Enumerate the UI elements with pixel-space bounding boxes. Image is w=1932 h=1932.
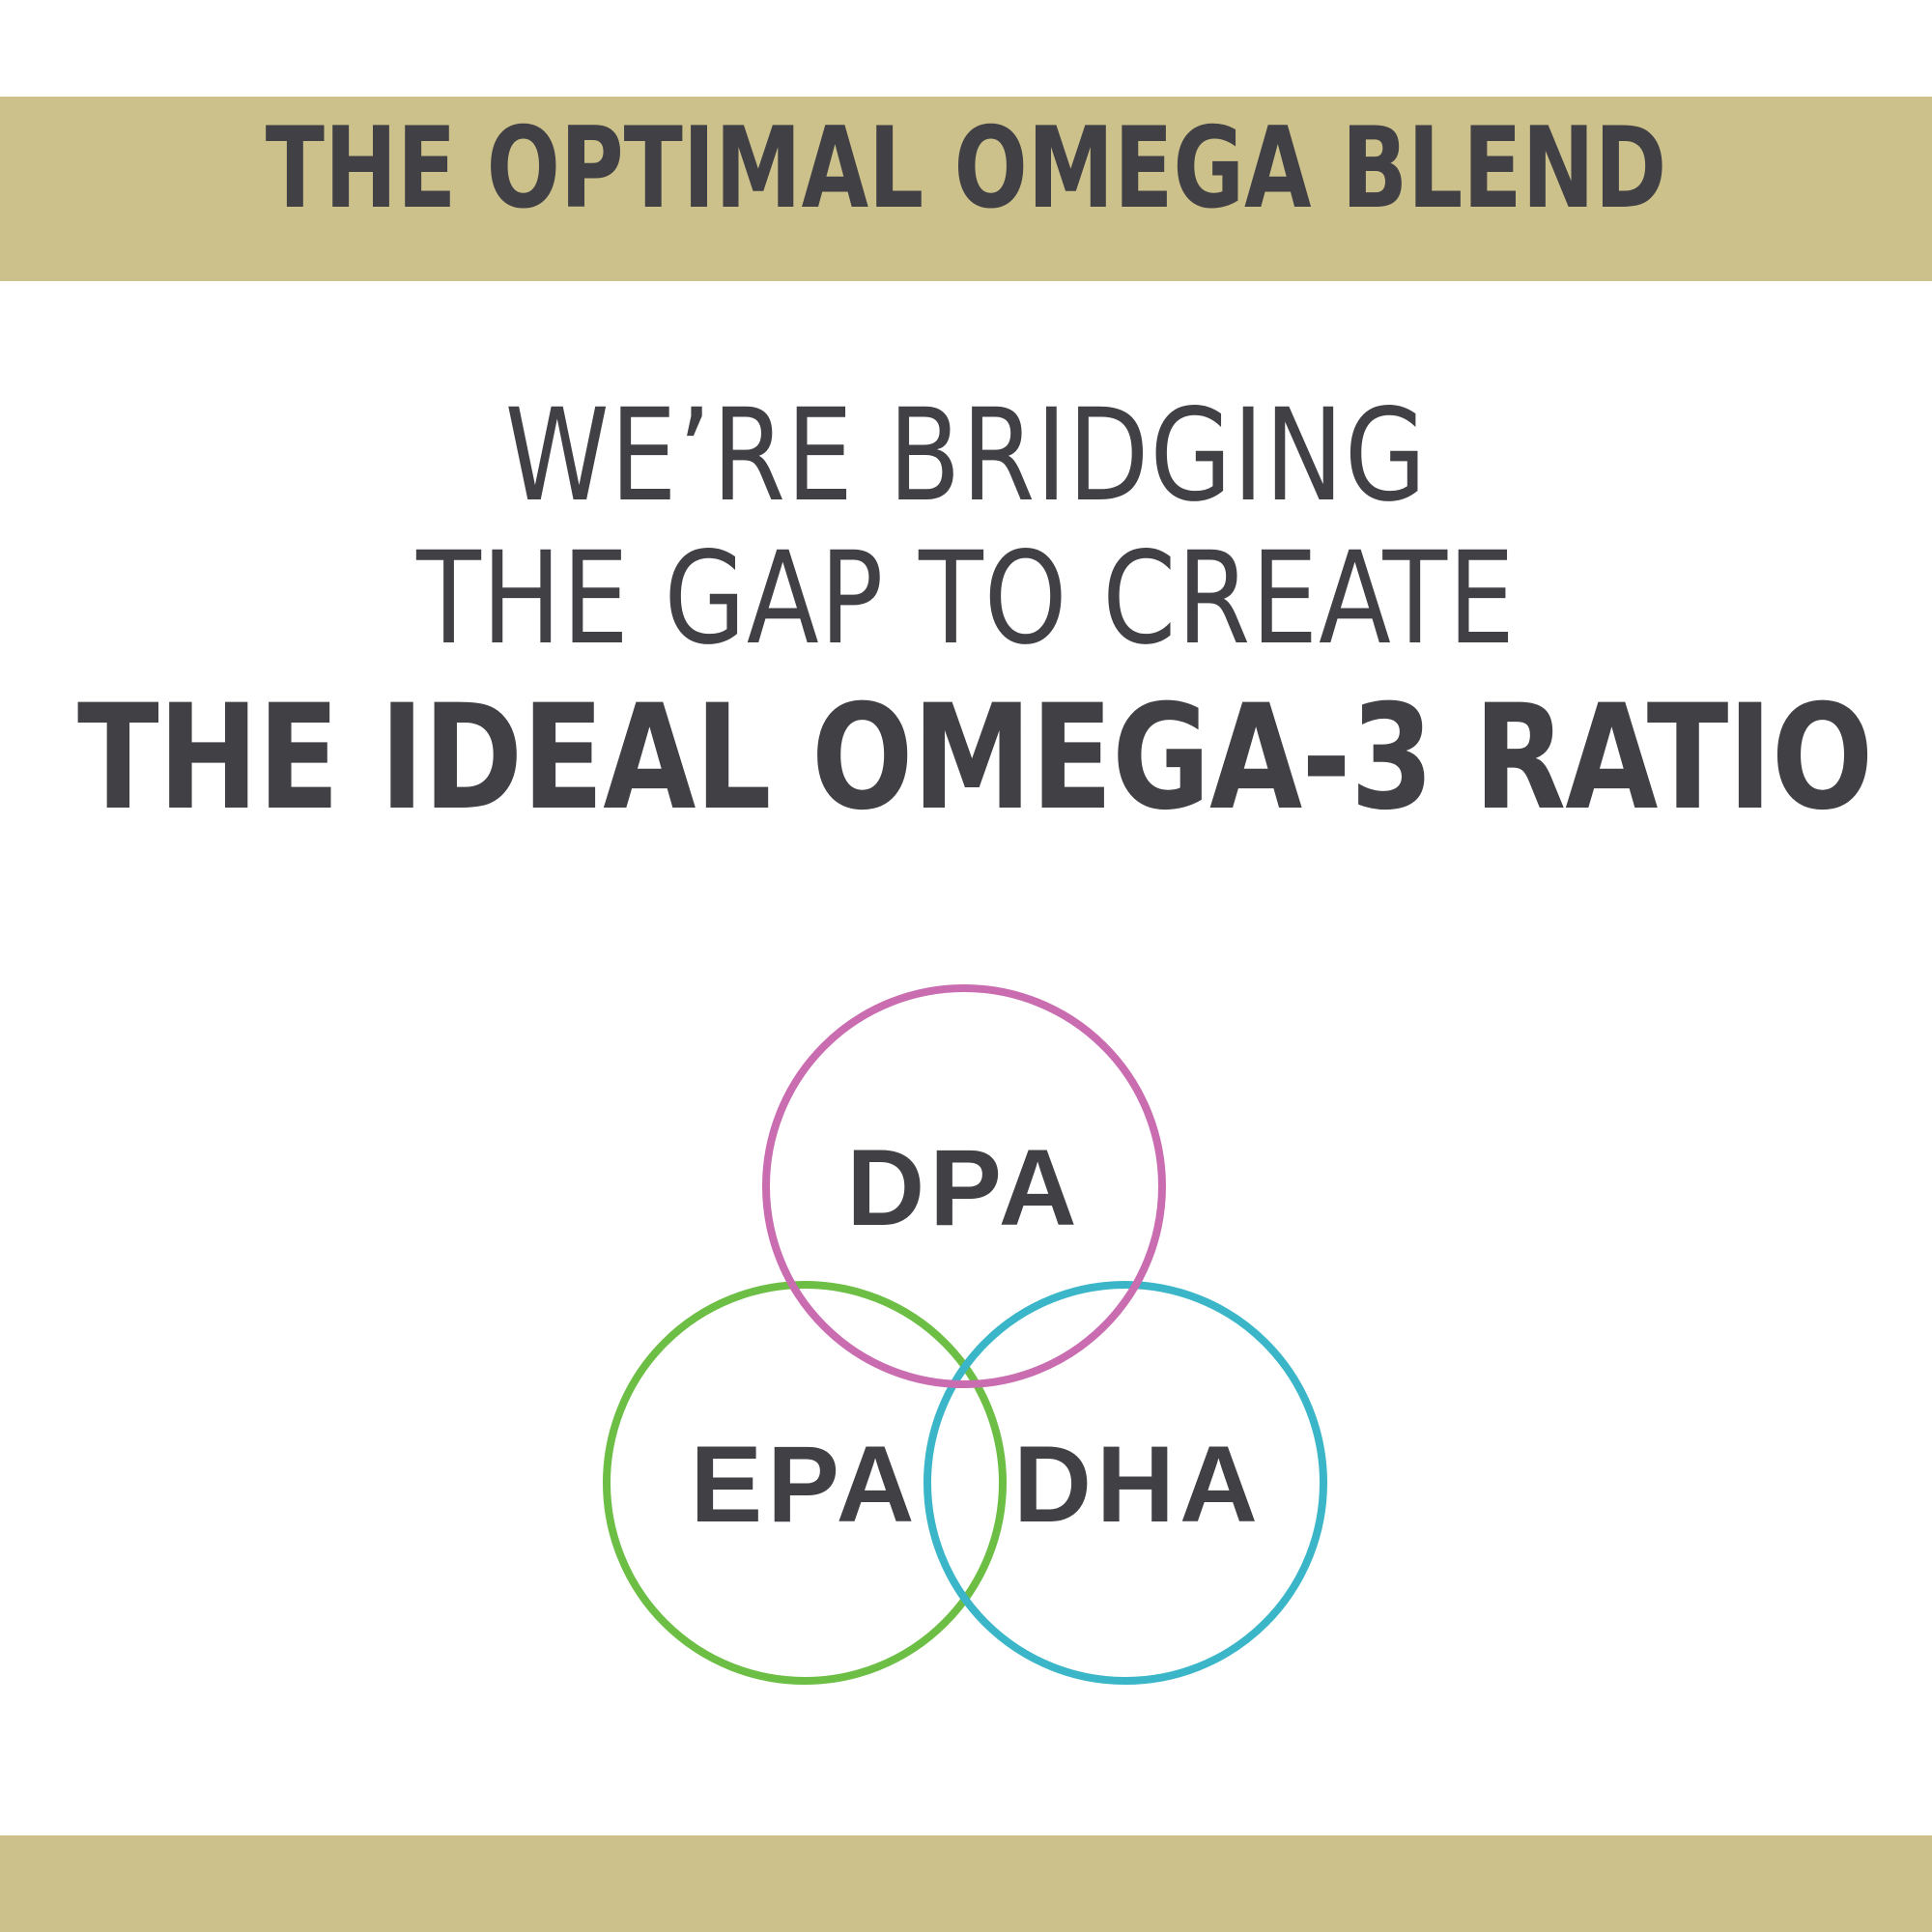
venn-label-dpa: DPA bbox=[846, 1127, 1081, 1248]
venn-diagram: DPA EPA DHA bbox=[541, 947, 1391, 1739]
headline-line-2: THE GAP TO CREATE bbox=[77, 527, 1855, 670]
headline-line-3: THE IDEAL OMEGA-3 RATIO bbox=[77, 682, 1855, 835]
bottom-gold-band bbox=[0, 1835, 1932, 1932]
venn-label-dha: DHA bbox=[1013, 1424, 1263, 1545]
banner-title: THE OPTIMAL OMEGA BLEND bbox=[135, 113, 1797, 225]
headline-line-1: WE’RE BRIDGING bbox=[77, 384, 1855, 527]
headline-block: WE’RE BRIDGING THE GAP TO CREATE THE IDE… bbox=[0, 384, 1932, 835]
venn-label-epa: EPA bbox=[691, 1424, 920, 1545]
poster-canvas: THE OPTIMAL OMEGA BLEND WE’RE BRIDGING T… bbox=[0, 0, 1932, 1932]
venn-diagram-svg: DPA EPA DHA bbox=[541, 947, 1391, 1739]
